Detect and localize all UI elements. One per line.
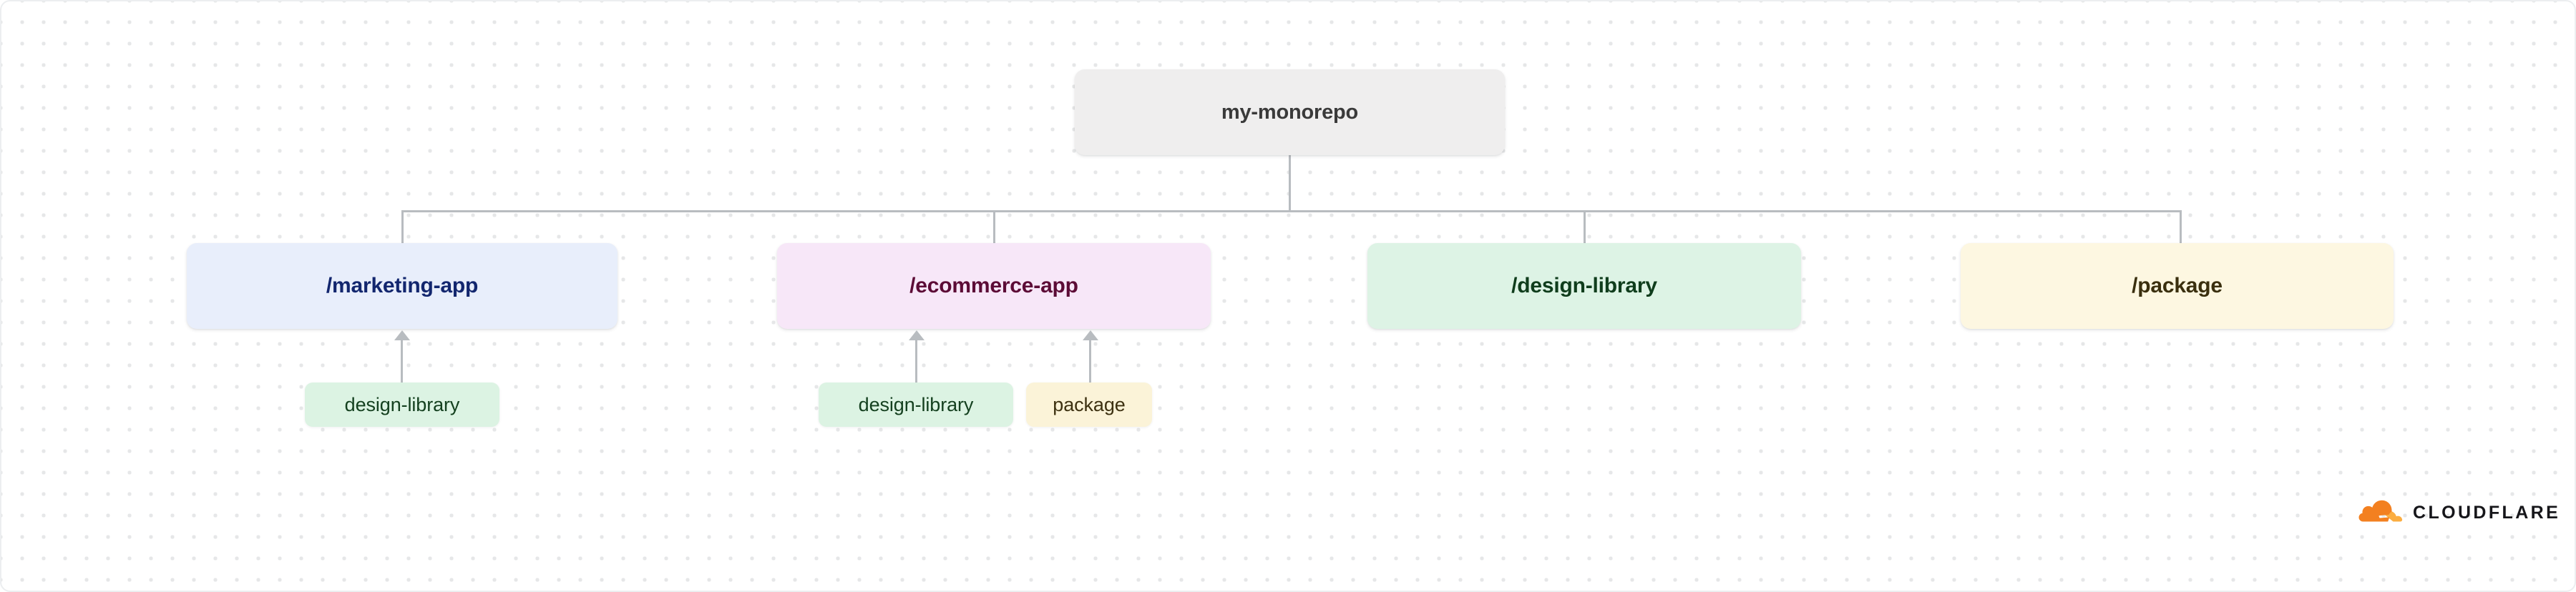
connector-drop-design-library xyxy=(1584,210,1586,245)
tag-label: package xyxy=(1053,394,1125,416)
tag-label: design-library xyxy=(859,394,974,416)
connector-drop-package xyxy=(2180,210,2182,245)
cloudflare-logo: CLOUDFLARE xyxy=(2357,500,2560,526)
arrowline-ecommerce-design-library xyxy=(915,340,917,383)
node-my-monorepo[interactable]: my-monorepo xyxy=(1075,69,1505,155)
arrowhead-ecommerce-package xyxy=(1083,330,1098,340)
node-package[interactable]: /package xyxy=(1961,243,2394,329)
cloudflare-cloud-icon xyxy=(2357,500,2403,526)
connector-drop-ecommerce-app xyxy=(993,210,995,245)
node-label: my-monorepo xyxy=(1221,101,1358,124)
arrowhead-marketing-design-library xyxy=(394,330,410,340)
node-label: /design-library xyxy=(1511,274,1657,298)
connector-root-stem xyxy=(1289,155,1291,212)
tag-marketing-dep-design-library[interactable]: design-library xyxy=(305,383,499,427)
arrowhead-ecommerce-design-library xyxy=(909,330,924,340)
node-design-library[interactable]: /design-library xyxy=(1367,243,1801,329)
tag-label: design-library xyxy=(345,394,460,416)
node-ecommerce-app[interactable]: /ecommerce-app xyxy=(777,243,1211,329)
node-label: /ecommerce-app xyxy=(909,274,1078,298)
node-label: /package xyxy=(2132,274,2223,298)
connector-drop-marketing-app xyxy=(401,210,404,245)
tag-ecommerce-dep-package[interactable]: package xyxy=(1026,383,1152,427)
arrowline-marketing-design-library xyxy=(401,340,403,383)
connector-horizontal-bus xyxy=(401,210,2182,212)
node-label: /marketing-app xyxy=(326,274,478,298)
diagram-canvas: my-monorepo /marketing-app design-librar… xyxy=(0,0,2576,592)
cloudflare-wordmark: CLOUDFLARE xyxy=(2413,504,2560,522)
arrowline-ecommerce-package xyxy=(1089,340,1091,383)
node-marketing-app[interactable]: /marketing-app xyxy=(187,243,618,329)
tag-ecommerce-dep-design-library[interactable]: design-library xyxy=(819,383,1013,427)
